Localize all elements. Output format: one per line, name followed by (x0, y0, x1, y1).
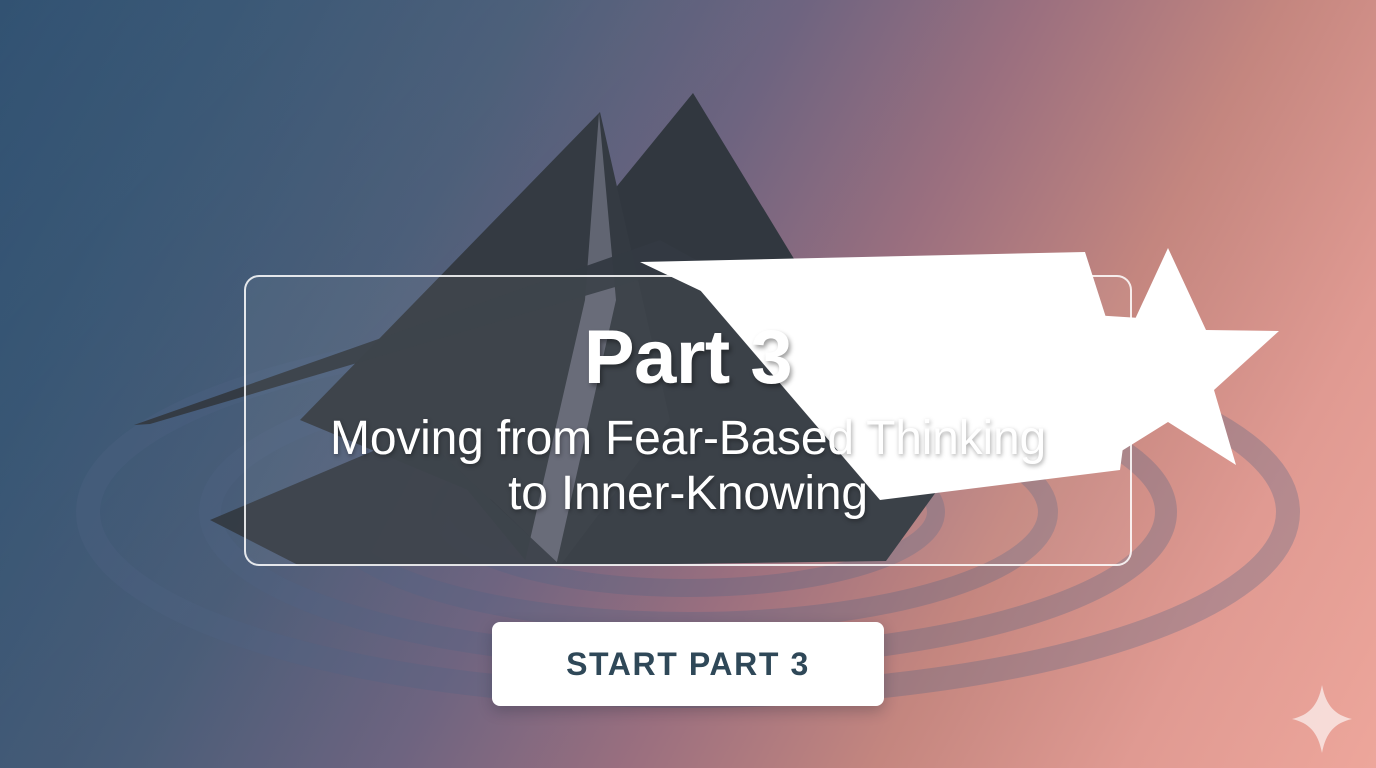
page-subtitle-line-2: to Inner-Knowing (508, 467, 868, 520)
page-title: Part 3 (584, 320, 792, 396)
page-subtitle: Moving from Fear-Based Thinking to Inner… (330, 412, 1046, 521)
start-part-button[interactable]: START PART 3 (492, 622, 884, 706)
part-title-card: Part 3 Moving from Fear-Based Thinking t… (244, 275, 1132, 566)
slide-canvas: Part 3 Moving from Fear-Based Thinking t… (0, 0, 1376, 768)
page-subtitle-line-1: Moving from Fear-Based Thinking (330, 412, 1046, 465)
